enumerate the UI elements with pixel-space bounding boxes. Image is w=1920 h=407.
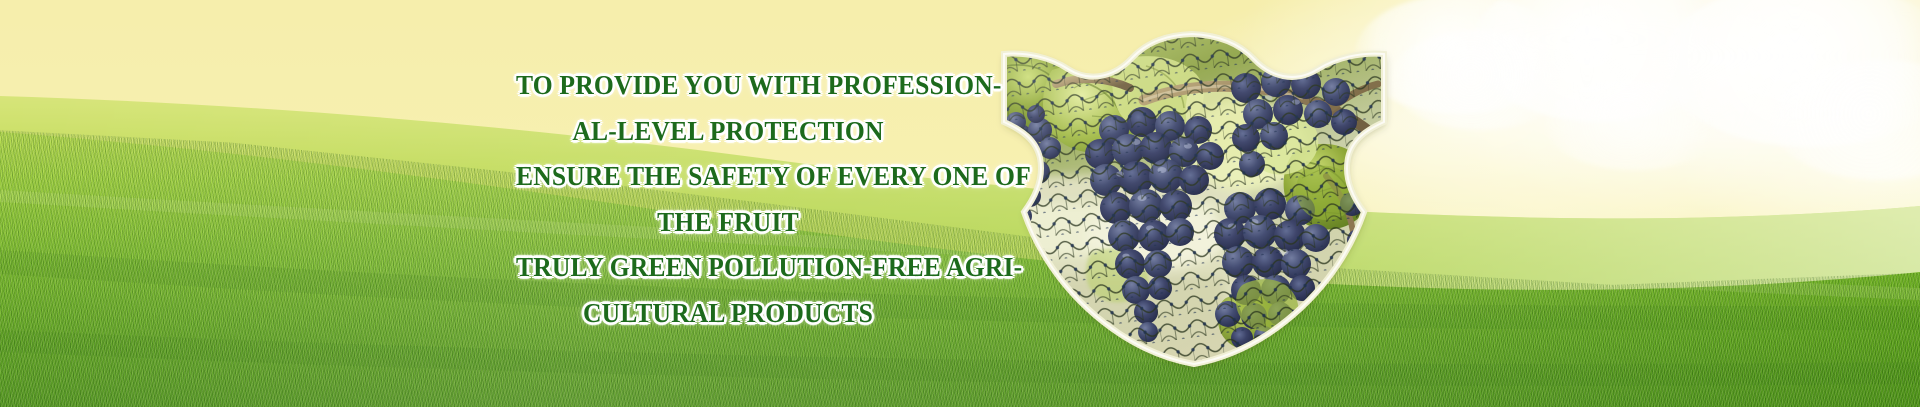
shield-photo <box>986 16 1406 386</box>
headline-line-6: CULTURAL PRODUCTS <box>516 290 940 336</box>
headline-line-3: ENSURE THE SAFETY OF EVERY ONE OF <box>516 153 940 199</box>
promo-banner: TO PROVIDE YOU WITH PROFESSION- AL-LEVEL… <box>0 0 1920 407</box>
headline-line-2: AL-LEVEL PROTECTION <box>516 108 940 154</box>
headline-line-5: TRULY GREEN POLLUTION-FREE AGRI- <box>516 244 940 290</box>
headline-line-4: THE FRUIT <box>516 199 940 245</box>
photo-gloss <box>996 26 1392 366</box>
headline-line-1: TO PROVIDE YOU WITH PROFESSION- <box>516 62 940 108</box>
shield-emblem <box>996 26 1392 366</box>
headline-text-block: TO PROVIDE YOU WITH PROFESSION- AL-LEVEL… <box>500 62 956 335</box>
